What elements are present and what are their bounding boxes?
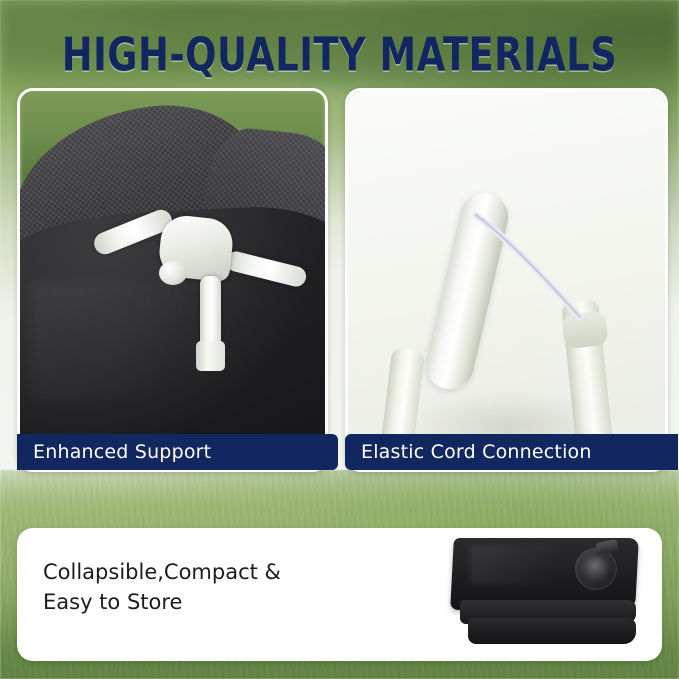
caption-enhanced-support: Enhanced Support bbox=[17, 434, 338, 470]
feature-card-left bbox=[17, 88, 328, 472]
pole-foot-cap bbox=[196, 341, 225, 371]
elastic-cord-icon bbox=[468, 209, 598, 329]
photo-elastic-cord-connection bbox=[348, 91, 665, 469]
feature-card-right bbox=[345, 88, 668, 472]
caption-elastic-cord-connection: Elastic Cord Connection bbox=[345, 434, 678, 470]
joint-knob bbox=[159, 261, 187, 285]
caption-right-label: Elastic Cord Connection bbox=[361, 441, 592, 463]
fabric-sheen bbox=[30, 281, 325, 401]
product-feature-poster: HIGH-QUALITY MATERIALS bbox=[0, 0, 679, 679]
page-title: HIGH-QUALITY MATERIALS bbox=[10, 28, 669, 82]
caption-left-label: Enhanced Support bbox=[33, 441, 211, 463]
folded-cover-bottom bbox=[468, 618, 636, 644]
photo-enhanced-support bbox=[20, 91, 325, 469]
bottom-text-line-2: Easy to Store bbox=[43, 587, 343, 617]
bottom-feature-text: Collapsible,Compact & Easy to Store bbox=[43, 557, 343, 617]
air-valve-inner bbox=[584, 557, 608, 581]
bottom-text-line-1: Collapsible,Compact & bbox=[43, 557, 343, 587]
